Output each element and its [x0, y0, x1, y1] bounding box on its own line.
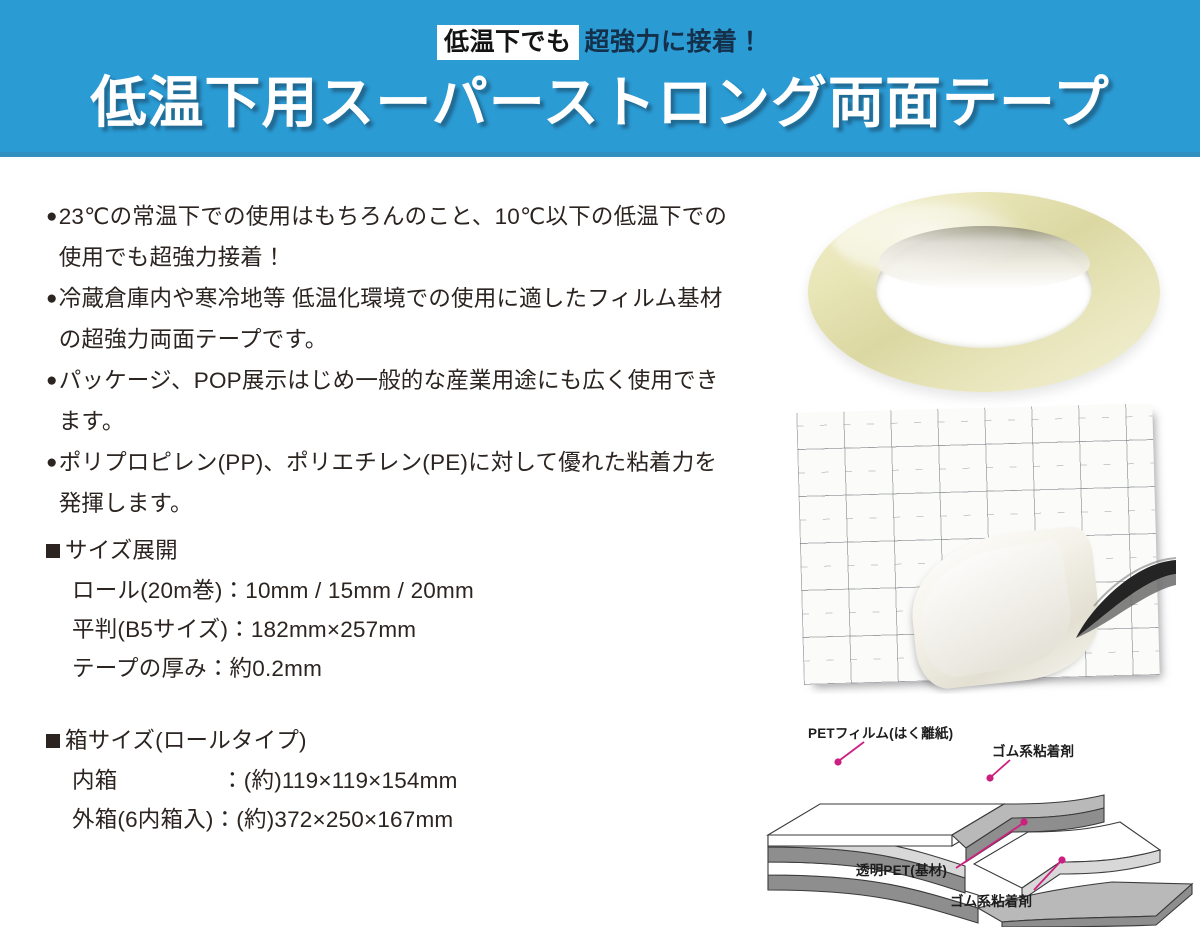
bullet-icon: ●	[46, 278, 58, 319]
diagram-label-pet-film: PETフィルム(はく離紙)	[808, 725, 953, 741]
list-item-text: パッケージ、POP展示はじめ一般的な産業用途にも広く使用できます。	[59, 360, 736, 442]
bullet-icon: ●	[46, 196, 58, 237]
page-title: 低温下用スーパーストロング両面テープ	[0, 66, 1200, 140]
product-photo-sheet	[792, 404, 1196, 694]
diagram-label-pet-base: 透明PET(基材)	[856, 862, 947, 878]
bullet-icon: ●	[46, 360, 58, 401]
tweezers-icon	[1038, 554, 1176, 646]
list-item: ● 冷蔵倉庫内や寒冷地等 低温化環境での使用に適したフィルム基材の超強力両面テー…	[46, 278, 736, 360]
leader-line-adhesive-top	[992, 760, 1010, 776]
spec-heading-box: 箱サイズ(ロールタイプ)	[46, 721, 458, 761]
list-item-text: 23℃の常温下での使用はもちろんのこと、10℃以下の低温下での使用でも超強力接着…	[59, 196, 736, 278]
leader-dot-pet-film	[834, 758, 841, 765]
leader-dot-adhesive-top	[986, 774, 993, 781]
header-banner-bottom-edge	[0, 152, 1200, 157]
spec-line: 内箱 ：(約)119×119×154mm	[46, 761, 458, 800]
list-item: ● 23℃の常温下での使用はもちろんのこと、10℃以下の低温下での使用でも超強力…	[46, 196, 736, 278]
spec-line: 平判(B5サイズ)：182mm×257mm	[46, 610, 474, 649]
tagline-highlight: 低温下でも	[437, 25, 579, 60]
spec-line: ロール(20m巻)：10mm / 15mm / 20mm	[46, 571, 474, 610]
feature-list: ● 23℃の常温下での使用はもちろんのこと、10℃以下の低温下での使用でも超強力…	[46, 196, 736, 524]
leader-line-pet-film	[840, 742, 864, 760]
square-bullet-icon	[46, 544, 60, 558]
spec-heading-size-label: サイズ展開	[65, 531, 178, 571]
spec-line: テープの厚み：約0.2mm	[46, 649, 474, 688]
leader-dot-adhesive-bottom	[1058, 856, 1065, 863]
diagram-label-adhesive-top: ゴム系粘着剤	[992, 743, 1074, 759]
spec-line: 外箱(6内箱入)：(約)372×250×167mm	[46, 800, 458, 839]
spec-block-box: 箱サイズ(ロールタイプ) 内箱 ：(約)119×119×154mm 外箱(6内箱…	[46, 721, 458, 839]
layer-structure-diagram: .face-w { fill:#ffffff; stroke:#3a3a3a; …	[760, 712, 1200, 927]
list-item: ● パッケージ、POP展示はじめ一般的な産業用途にも広く使用できます。	[46, 360, 736, 442]
leader-dot-pet-base	[1020, 818, 1027, 825]
diagram-label-adhesive-bottom: ゴム系粘着剤	[950, 893, 1032, 909]
product-photo-roll	[784, 186, 1196, 398]
diagram-top-sheet-edge	[768, 835, 952, 846]
tagline: 低温下でも超強力に接着！	[0, 25, 1200, 59]
product-flyer: 低温下でも超強力に接着！ 低温下用スーパーストロング両面テープ ● 23℃の常温…	[0, 0, 1200, 932]
spec-heading-size: サイズ展開	[46, 531, 474, 571]
spec-heading-box-label: 箱サイズ(ロールタイプ)	[65, 721, 307, 761]
bullet-icon: ●	[46, 442, 58, 483]
square-bullet-icon	[46, 734, 60, 748]
list-item-text: ポリプロピレン(PP)、ポリエチレン(PE)に対して優れた粘着力を発揮します。	[59, 442, 736, 524]
tape-roll-highlight	[832, 204, 1022, 274]
tagline-rest: 超強力に接着！	[579, 28, 764, 56]
spec-block-size: サイズ展開 ロール(20m巻)：10mm / 15mm / 20mm 平判(B5…	[46, 531, 474, 688]
list-item-text: 冷蔵倉庫内や寒冷地等 低温化環境での使用に適したフィルム基材の超強力両面テープで…	[59, 278, 736, 360]
list-item: ● ポリプロピレン(PP)、ポリエチレン(PE)に対して優れた粘着力を発揮します…	[46, 442, 736, 524]
